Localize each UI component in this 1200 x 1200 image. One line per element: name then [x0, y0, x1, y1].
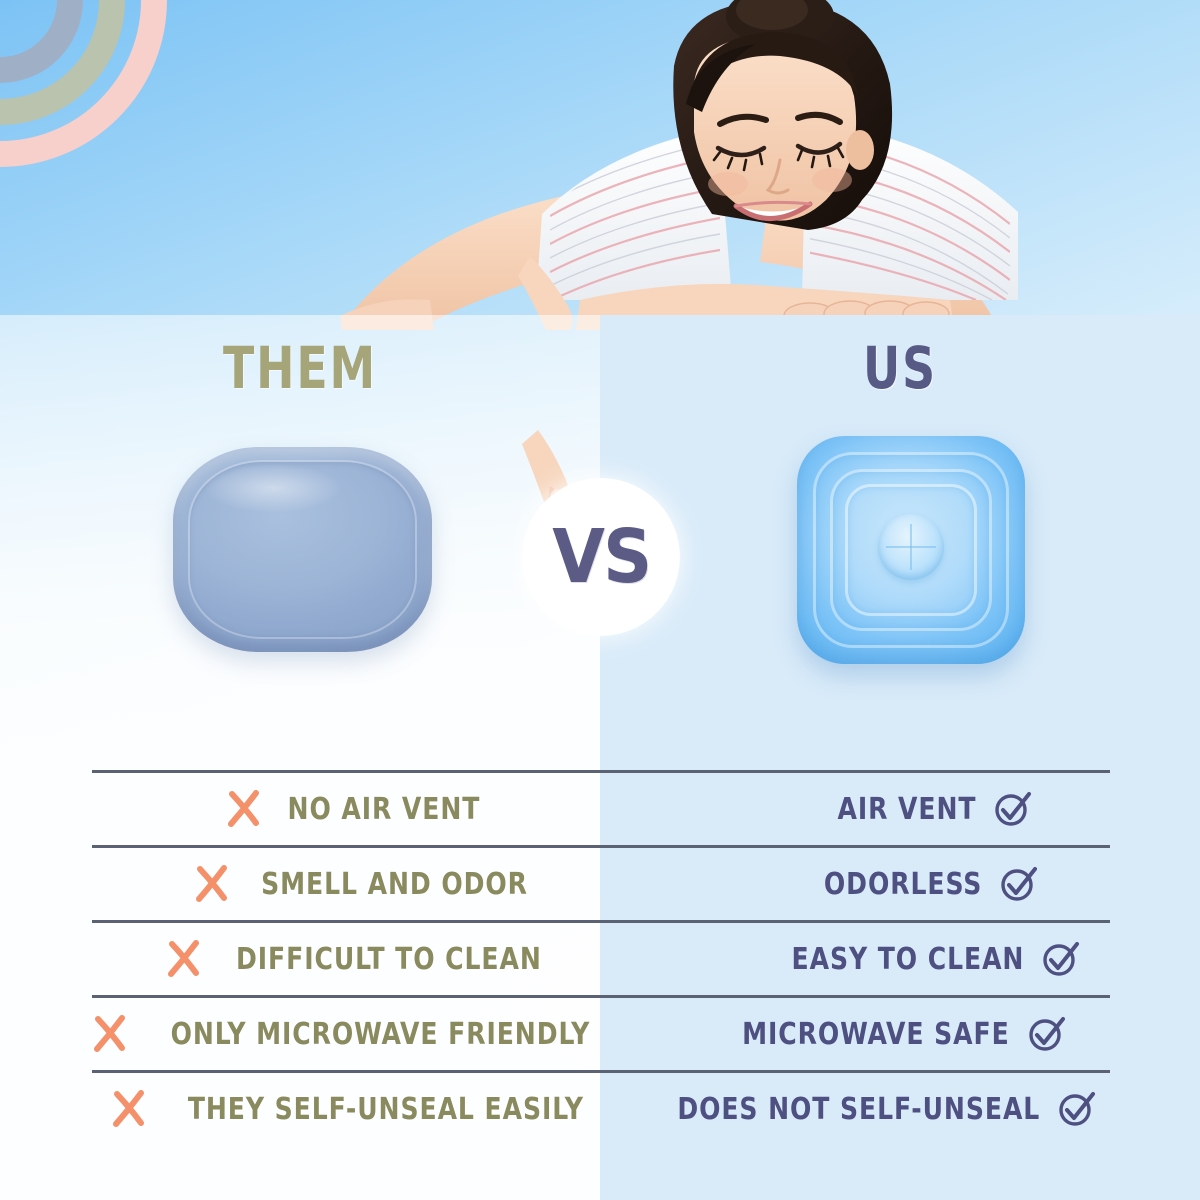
- x-mark-icon: [93, 1015, 127, 1053]
- circled-check-icon: [1026, 1014, 1066, 1054]
- cell-them: ONLY MICROWAVE FRIENDLY: [92, 1015, 600, 1053]
- cell-us: AIR VENT: [600, 789, 1110, 829]
- cell-us: DOES NOT SELF-UNSEAL: [600, 1089, 1110, 1129]
- table-row: THEY SELF-UNSEAL EASILY DOES NOT SELF-UN…: [92, 1070, 1110, 1151]
- vs-badge: VS: [522, 478, 680, 636]
- vs-label: VS: [552, 514, 650, 600]
- feature-label-them: ONLY MICROWAVE FRIENDLY: [170, 1017, 590, 1052]
- product-image-them: [173, 447, 432, 652]
- cell-them: SMELL AND ODOR: [92, 865, 600, 903]
- x-mark-icon: [195, 865, 229, 903]
- feature-label-us: EASY TO CLEAN: [791, 942, 1024, 977]
- table-row: ONLY MICROWAVE FRIENDLY MICROWAVE SAFE: [92, 995, 1110, 1070]
- hero-photo: [250, 0, 1090, 330]
- air-vent-button: [878, 514, 944, 580]
- cell-them: THEY SELF-UNSEAL EASILY: [92, 1090, 600, 1128]
- cell-them: NO AIR VENT: [92, 790, 600, 828]
- x-mark-icon: [167, 940, 201, 978]
- cell-them: DIFFICULT TO CLEAN: [92, 940, 600, 978]
- feature-label-us: DOES NOT SELF-UNSEAL: [677, 1092, 1040, 1127]
- decorative-arcs-top-left: [0, 0, 270, 270]
- comparison-table: NO AIR VENT AIR VENT SMELL AND ODOR OD: [92, 770, 1110, 1151]
- comparison-infographic: THEM US VS NO AIR VENT AIR VEN: [0, 0, 1200, 1200]
- circled-check-icon: [998, 864, 1038, 904]
- feature-label-us: ODORLESS: [824, 867, 982, 902]
- smiling-woman-illustration: [250, 0, 1090, 330]
- table-row: SMELL AND ODOR ODORLESS: [92, 845, 1110, 920]
- cell-us: MICROWAVE SAFE: [600, 1014, 1110, 1054]
- table-row: NO AIR VENT AIR VENT: [92, 770, 1110, 845]
- feature-label-them: THEY SELF-UNSEAL EASILY: [188, 1092, 584, 1127]
- product-image-us: [797, 436, 1025, 664]
- circled-check-icon: [992, 789, 1032, 829]
- heading-us: US: [636, 334, 1164, 402]
- x-mark-icon: [112, 1090, 146, 1128]
- feature-label-them: SMELL AND ODOR: [261, 867, 528, 902]
- heading-them: THEM: [36, 334, 564, 402]
- circled-check-icon: [1040, 939, 1080, 979]
- feature-label-us: AIR VENT: [837, 792, 976, 827]
- feature-label-them: DIFFICULT TO CLEAN: [236, 942, 542, 977]
- cell-us: EASY TO CLEAN: [600, 939, 1110, 979]
- circled-check-icon: [1056, 1089, 1096, 1129]
- table-row: DIFFICULT TO CLEAN EASY TO CLEAN: [92, 920, 1110, 995]
- feature-label-us: MICROWAVE SAFE: [742, 1017, 1010, 1052]
- x-mark-icon: [227, 790, 261, 828]
- cell-us: ODORLESS: [600, 864, 1110, 904]
- feature-label-them: NO AIR VENT: [287, 792, 480, 827]
